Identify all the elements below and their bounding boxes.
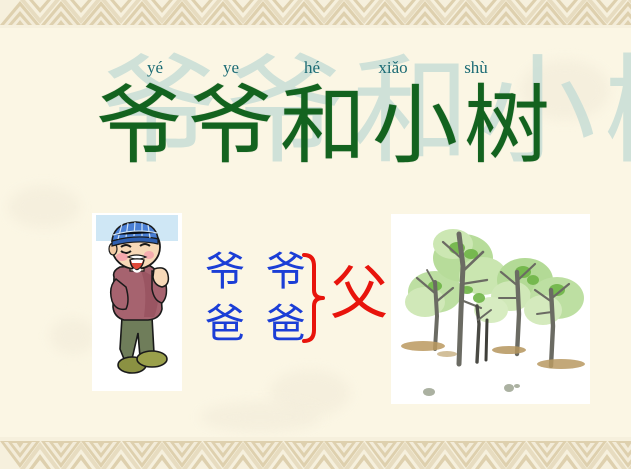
word-row-yeye: 爷 爷 (205, 246, 315, 298)
paper-blotch (200, 402, 320, 432)
word-row-baba: 爸 爸 (205, 298, 315, 350)
trees-drawing (391, 214, 590, 404)
pinyin-syllable: hé (274, 58, 350, 78)
slide-canvas: 爷爷和小树 yé ye hé xiǎo shù 爷爷和小树 (0, 0, 631, 469)
grandfather-illustration (92, 213, 182, 391)
word-pair-column: 爷 爷 爸 爸 (205, 246, 315, 350)
pinyin-syllable: ye (188, 58, 274, 78)
page-title: 爷爷和小树 (96, 83, 556, 169)
top-decorative-border (0, 0, 631, 28)
paper-blotch (50, 318, 96, 354)
pinyin-syllable: yé (122, 58, 188, 78)
paper-blotch (8, 186, 80, 228)
pinyin-syllable: shù (436, 58, 516, 78)
brace-icon (300, 252, 326, 344)
bottom-decorative-border (0, 437, 631, 469)
pinyin-syllable: xiǎo (350, 58, 436, 78)
young-trees-painting (391, 214, 590, 404)
pinyin-row: yé ye hé xiǎo shù (122, 58, 542, 78)
result-character: 父 (330, 264, 388, 322)
grandfather-drawing (92, 213, 182, 391)
